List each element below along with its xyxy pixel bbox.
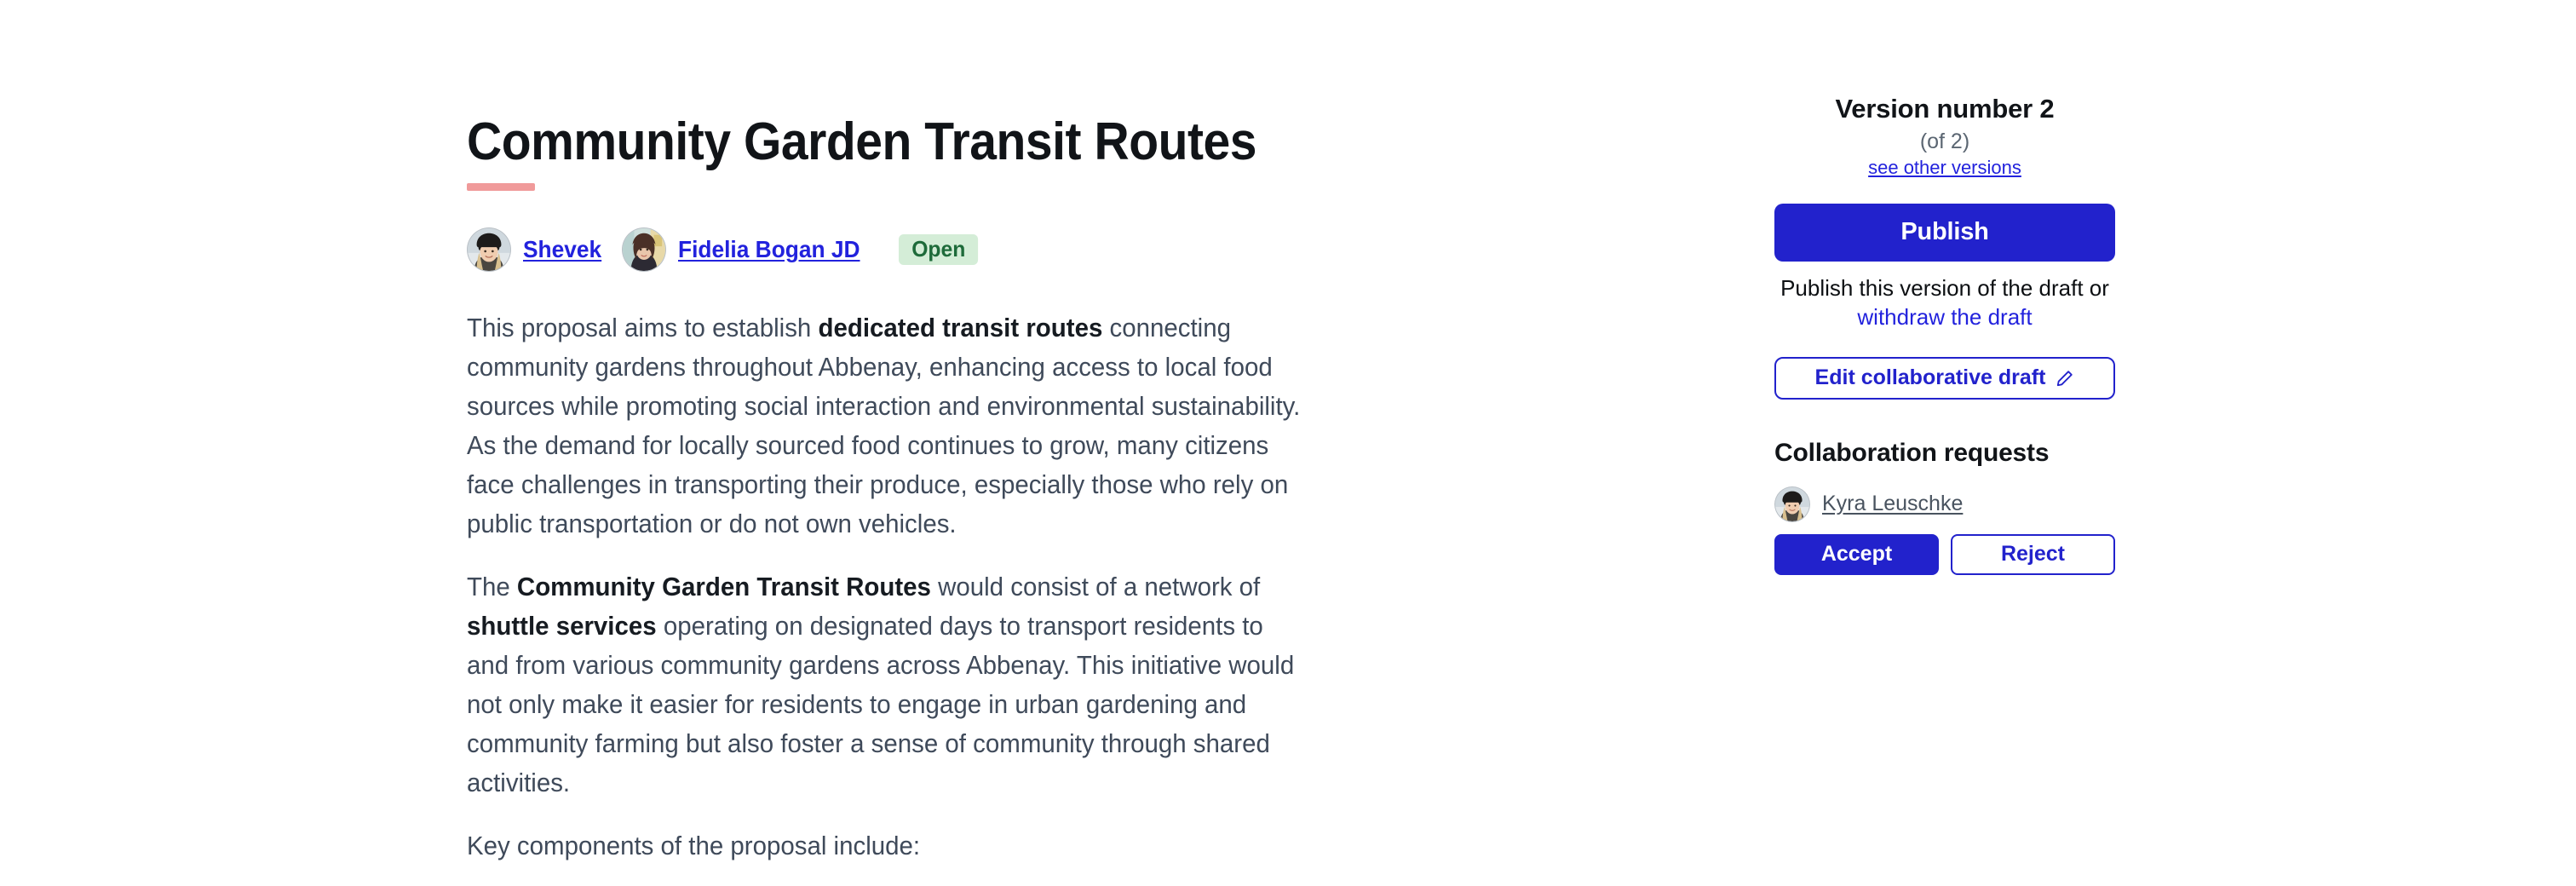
paragraph: This proposal aims to establish dedicate… xyxy=(467,308,1308,544)
paragraph: The Community Garden Transit Routes woul… xyxy=(467,567,1308,803)
pencil-icon xyxy=(2056,369,2074,388)
publish-help-prefix: Publish this version of the draft or xyxy=(1780,275,2109,301)
document-body: This proposal aims to establish dedicate… xyxy=(467,308,1233,866)
title-accent-rule xyxy=(467,183,535,191)
publish-button[interactable]: Publish xyxy=(1774,204,2115,262)
woman-brownhair-avatar xyxy=(622,227,666,272)
author-shevek: Shevek xyxy=(467,227,607,272)
collaboration-requests-heading: Collaboration requests xyxy=(1774,439,2115,468)
emphasis-text: shuttle services xyxy=(467,611,657,641)
emphasis-text: Community Garden Transit Routes xyxy=(517,572,931,601)
paragraph: Key components of the proposal include: xyxy=(467,826,1308,866)
edit-collaborative-draft-button[interactable]: Edit collaborative draft xyxy=(1774,357,2115,400)
collaboration-request-row: Kyra Leuschke xyxy=(1774,486,2115,522)
main-content: Community Garden Transit Routes xyxy=(467,0,1659,866)
page-title: Community Garden Transit Routes xyxy=(467,0,1564,171)
document-review-page: Community Garden Transit Routes xyxy=(0,0,2576,886)
version-sidebar: Version number 2 (of 2) see other versio… xyxy=(1774,0,2115,575)
publish-help-text: Publish this version of the draft or wit… xyxy=(1774,273,2115,331)
byline: Shevek xyxy=(467,227,1659,273)
author-link[interactable]: Fidelia Bogan JD xyxy=(678,236,860,263)
collaboration-request-actions: Accept Reject xyxy=(1774,534,2115,575)
author-fidelia: Fidelia Bogan JD xyxy=(622,227,871,272)
author-link[interactable]: Shevek xyxy=(523,236,601,263)
withdraw-draft-link[interactable]: withdraw the draft xyxy=(1857,304,2032,330)
emphasis-text: dedicated transit routes xyxy=(818,313,1102,342)
woman-beanie-avatar xyxy=(1774,486,1810,522)
edit-draft-label: Edit collaborative draft xyxy=(1815,365,2046,390)
reject-button[interactable]: Reject xyxy=(1951,534,2115,575)
version-number-heading: Version number 2 xyxy=(1774,0,2115,124)
status-badge: Open xyxy=(899,234,979,265)
version-count: (of 2) xyxy=(1774,129,2115,154)
collaborator-link[interactable]: Kyra Leuschke xyxy=(1822,492,1963,516)
woman-beanie-avatar xyxy=(467,227,511,272)
see-other-versions-link[interactable]: see other versions xyxy=(1774,157,2115,179)
accept-button[interactable]: Accept xyxy=(1774,534,1939,575)
